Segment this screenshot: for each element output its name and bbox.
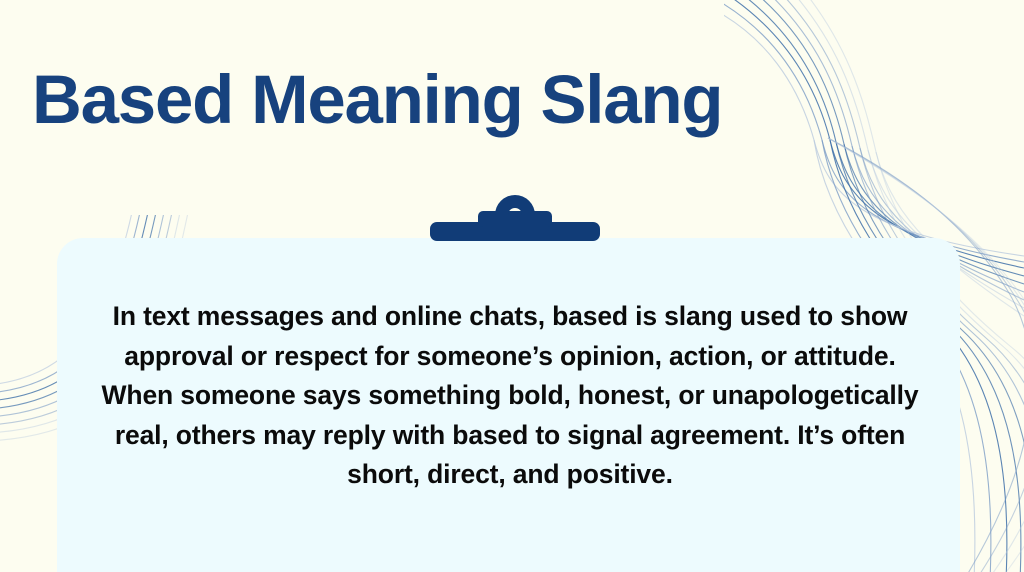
slide-canvas: Based Meaning Slang In text messages and… (0, 0, 1024, 572)
clipboard-clip-icon (430, 193, 600, 241)
page-title: Based Meaning Slang (32, 64, 892, 136)
definition-body-text: In text messages and online chats, based… (95, 297, 925, 495)
